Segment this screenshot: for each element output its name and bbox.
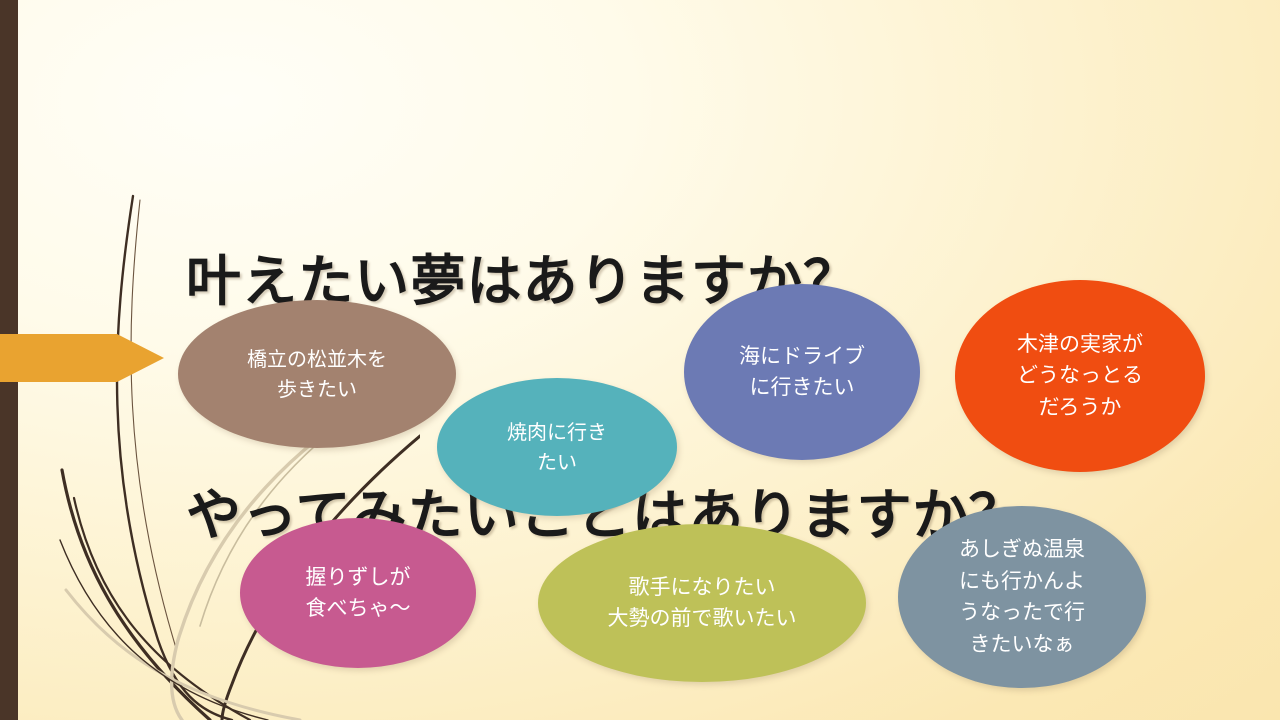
orange-arrow-shape <box>0 334 164 382</box>
bubble-hashidate[interactable]: 橋立の松並木を 歩きたい <box>178 300 456 448</box>
bubble-sushi-label: 握りずしが 食べちゃ〜 <box>298 562 419 625</box>
bubble-yakiniku[interactable]: 焼肉に行き たい <box>437 378 677 516</box>
bubble-kizu-label: 木津の実家が どうなっとる だろうか <box>1009 329 1151 424</box>
bubble-drive-label: 海にドライブ に行きたい <box>731 341 873 404</box>
bubble-sushi[interactable]: 握りずしが 食べちゃ〜 <box>240 518 476 668</box>
slide-canvas: 叶えたい夢はありますか？ やってみたいことはありますか？ 橋立の松並木を 歩きた… <box>0 0 1280 720</box>
bubble-kizu[interactable]: 木津の実家が どうなっとる だろうか <box>955 280 1205 472</box>
bubble-drive[interactable]: 海にドライブ に行きたい <box>684 284 920 460</box>
bubble-onsen-label: あしぎぬ温泉 にも行かんよ うなったで行 きたいなぁ <box>951 534 1093 660</box>
bubble-onsen[interactable]: あしぎぬ温泉 にも行かんよ うなったで行 きたいなぁ <box>898 506 1146 688</box>
bubble-hashidate-label: 橋立の松並木を 歩きたい <box>239 344 395 404</box>
bubble-kashu[interactable]: 歌手になりたい 大勢の前で歌いたい <box>538 524 866 682</box>
bubble-kashu-label: 歌手になりたい 大勢の前で歌いたい <box>600 572 805 635</box>
bubble-yakiniku-label: 焼肉に行き たい <box>499 417 615 477</box>
